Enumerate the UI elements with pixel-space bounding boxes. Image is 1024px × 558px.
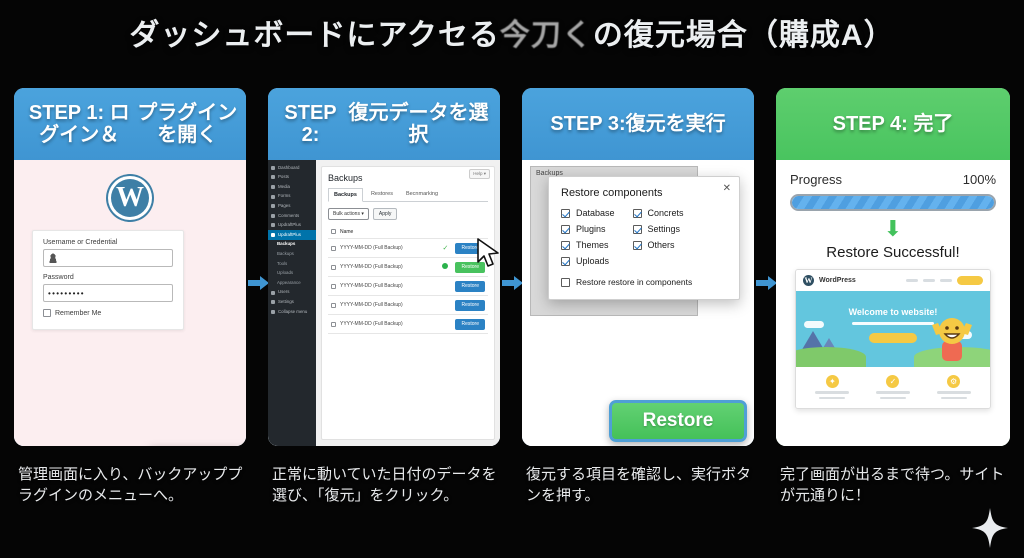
restore-button[interactable]: Restore [455, 262, 485, 273]
sidebar-item-label: Settings [278, 300, 294, 304]
sidebar-item-label: Tools [277, 262, 287, 266]
tab-restores[interactable]: Restores [366, 188, 398, 201]
title-part-1: ダッシュボードにアクセる [129, 19, 500, 52]
title-glitch-text: 今刀く [500, 19, 593, 52]
title-part-2: の復元場合（購成A） [593, 19, 895, 52]
site-hero: Welcome to website! [796, 291, 990, 367]
backup-rows: YYYY-MM-DD (Full Backup)✓RestoreYYYY-MM-… [328, 239, 488, 334]
status-check-icon: ✓ [439, 244, 451, 252]
user-icon [48, 253, 58, 263]
bulk-actions-label: Bulk actions [333, 211, 360, 217]
sidebar-item-icon [271, 233, 275, 237]
wp-admin-sidebar: DashboardPostsMediaFormsPagesCommentsUpd… [268, 160, 316, 446]
step-4-panel: STEP 4: 完了 Progress 100% ⬇ Restore Succe… [776, 88, 1010, 446]
sidebar-item-label: Appearance [277, 281, 301, 285]
progress-label: Progress [790, 172, 842, 187]
sidebar-item-appearance[interactable]: Appearance [268, 278, 316, 288]
step-2-header: STEP 2:復元データを選択 [268, 88, 500, 160]
hero-cta-button[interactable] [869, 333, 917, 343]
sparkle-icon [972, 508, 1008, 548]
component-option-database[interactable]: Database [561, 208, 615, 218]
progress-value: 100% [963, 172, 996, 187]
row-checkbox[interactable] [331, 265, 336, 270]
sidebar-item-icon [271, 300, 275, 304]
component-label: Themes [576, 240, 609, 250]
step-3-header: STEP 3:復元を実行 [522, 88, 754, 160]
star-icon: ✦ [826, 375, 839, 388]
component-option-uploads[interactable]: Uploads [561, 256, 615, 266]
status-dot-icon [439, 263, 451, 271]
component-checkbox[interactable] [561, 241, 570, 250]
sidebar-item-icon [271, 204, 275, 208]
table-row[interactable]: YYYY-MM-DD (Full Backup)✓Restore [328, 239, 488, 258]
sidebar-item-icon [271, 185, 275, 189]
help-button[interactable]: Help ▾ [469, 169, 490, 179]
extra-option-label: Restore restore in components [576, 277, 692, 287]
component-checkbox[interactable] [633, 209, 642, 218]
feature-line [876, 391, 910, 394]
sidebar-item-forms[interactable]: Forms [268, 192, 316, 202]
components-grid: DatabasePluginsThemesUploads ConcretsSet… [561, 208, 727, 266]
tab-backups[interactable]: Backups [328, 188, 363, 202]
nav-link-placeholder[interactable] [906, 279, 918, 282]
step-4-header: STEP 4: 完了 [776, 88, 1010, 160]
connector-arrow-3 [756, 275, 778, 291]
table-row[interactable]: YYYY-MM-DD (Full Backup)Restore [328, 277, 488, 296]
tab-becnmarking[interactable]: Becnmarking [401, 188, 443, 201]
progress-bar-fill [792, 196, 994, 209]
page-title: ダッシュボードにアクセる今刀くの復元場合（購成A） [0, 10, 1024, 54]
backup-name: YYYY-MM-DD (Full Backup) [340, 321, 435, 327]
backups-tabs: Backups Restores Becnmarking [328, 188, 488, 202]
component-label: Settings [648, 224, 681, 234]
sidebar-item-users[interactable]: Users [268, 288, 316, 298]
feature-line [819, 397, 845, 400]
sidebar-item-label: Backups [277, 242, 295, 246]
restore-button[interactable]: Restore [455, 281, 485, 292]
component-option-settings[interactable]: Settings [633, 224, 684, 234]
restore-button[interactable]: Restore [609, 400, 747, 442]
username-label: Username or Credential [43, 239, 173, 246]
component-label: Plugins [576, 224, 606, 234]
backup-name: YYYY-MM-DD (Full Backup) [340, 245, 435, 251]
feature-line [941, 397, 967, 400]
component-option-concrets[interactable]: Concrets [633, 208, 684, 218]
sidebar-item-uploads[interactable]: Uploads [268, 269, 316, 279]
bulk-actions-select[interactable]: Bulk actions ▾ [328, 208, 369, 220]
sidebar-item-pages[interactable]: Pages [268, 201, 316, 211]
hero-divider [852, 322, 934, 325]
apply-button[interactable]: Apply [373, 208, 398, 220]
sidebar-item-icon [271, 214, 275, 218]
components-column-right: ConcretsSettingsOthers [633, 208, 684, 266]
login-form: Username or Credential Password ••••••••… [32, 230, 184, 330]
feature-item: ✓ [869, 375, 917, 399]
password-input[interactable]: ••••••••• [43, 284, 173, 302]
table-row[interactable]: YYYY-MM-DD (Full Backup)Restore [328, 315, 488, 334]
table-row[interactable]: YYYY-MM-DD (Full Backup)Restore [328, 296, 488, 315]
success-message: Restore Successful! [790, 244, 996, 261]
remember-me-label: Remember Me [55, 310, 101, 317]
connector-arrow-2 [502, 275, 524, 291]
caption-step-1: 管理画面に入り、バックアッププラグインのメニューへ。 [18, 464, 254, 507]
row-checkbox[interactable] [331, 303, 336, 308]
feature-line [937, 391, 971, 394]
step-2-panel: STEP 2:復元データを選択 DashboardPostsMediaForms… [268, 88, 500, 446]
sidebar-item-collapse-menu[interactable]: Collapse menu [268, 307, 316, 317]
sidebar-item-label: UpdraftPlus [278, 223, 301, 227]
sidebar-item-icon [271, 310, 275, 314]
feature-line [880, 397, 906, 400]
select-all-checkbox[interactable] [331, 229, 336, 234]
sidebar-item-icon [271, 166, 275, 170]
hill-shape [796, 347, 866, 367]
backup-name: YYYY-MM-DD (Full Backup) [340, 264, 435, 270]
restore-components-dialog: ✕ Restore components DatabasePluginsThem… [548, 176, 740, 300]
site-navbar: W WordPress [796, 270, 990, 291]
nav-link-placeholder[interactable] [940, 279, 952, 282]
website-preview: W WordPress [795, 269, 991, 409]
restore-button[interactable]: Restore [455, 243, 485, 254]
sidebar-item-tools[interactable]: Tools [268, 259, 316, 269]
nav-link-placeholder[interactable] [923, 279, 935, 282]
happy-character-icon [930, 313, 974, 361]
sidebar-item-updraftplus[interactable]: UpdraftPlus [268, 221, 316, 231]
component-checkbox[interactable] [561, 225, 570, 234]
caption-step-2: 正常に動いていた日付のデータを選び、「復元」をクリック。 [272, 464, 508, 507]
restore-button[interactable]: Restore [455, 319, 485, 330]
completion-screen: Progress 100% ⬇ Restore Successful! W Wo… [776, 160, 1010, 446]
table-header-row: Name [328, 225, 488, 239]
sidebar-item-label: Media [278, 185, 290, 189]
step-2-body: DashboardPostsMediaFormsPagesCommentsUpd… [268, 160, 500, 446]
sidebar-item-media[interactable]: Media [268, 182, 316, 192]
sidebar-item-label: Pages [278, 204, 290, 208]
sidebar-item-label: UpdraftPlus [278, 233, 301, 237]
wp-admin-screen: DashboardPostsMediaFormsPagesCommentsUpd… [268, 160, 500, 446]
sidebar-item-label: Uploads [277, 271, 293, 275]
nav-cta-button[interactable] [957, 276, 983, 285]
component-option-themes[interactable]: Themes [561, 240, 615, 250]
remember-me-row[interactable]: Remember Me [43, 309, 173, 317]
component-label: Uploads [576, 256, 609, 266]
components-column-left: DatabasePluginsThemesUploads [561, 208, 615, 266]
backup-name: YYYY-MM-DD (Full Backup) [340, 283, 435, 289]
sidebar-item-backups[interactable]: Backups [268, 249, 316, 259]
sidebar-item-icon [271, 223, 275, 227]
connector-arrow-1 [248, 275, 270, 291]
check-icon: ✓ [886, 375, 899, 388]
column-header-name: Name [340, 229, 437, 235]
sidebar-item-dashboard[interactable]: Dashboard [268, 163, 316, 173]
sidebar-item-icon [271, 175, 275, 179]
caption-step-4: 完了画面が出るまで待つ。サイトが元通りに！ [780, 464, 1016, 507]
component-option-others[interactable]: Others [633, 240, 684, 250]
sidebar-item-label: Dashboard [278, 166, 299, 170]
close-icon[interactable]: ✕ [723, 183, 731, 194]
component-checkbox[interactable] [561, 209, 570, 218]
progress-row: Progress 100% [790, 172, 996, 187]
row-checkbox[interactable] [331, 246, 336, 251]
component-option-plugins[interactable]: Plugins [561, 224, 615, 234]
step-1-body: W Username or Credential Password ••••••… [14, 160, 246, 446]
step-3-body: Backups ✕ Restore components DatabasePlu… [522, 160, 754, 446]
progress-bar [790, 194, 996, 211]
gear-icon: ⚙ [947, 375, 960, 388]
feature-item: ⚙ [930, 375, 978, 399]
restore-button[interactable]: Restore [455, 300, 485, 311]
bulk-actions-row: Bulk actions ▾ Apply [328, 208, 488, 220]
component-label: Concrets [648, 208, 684, 218]
sidebar-item-posts[interactable]: Posts [268, 173, 316, 183]
component-checkbox[interactable] [561, 257, 570, 266]
wordpress-logo-icon: W [803, 275, 814, 286]
dialog-title: Restore components [561, 187, 727, 199]
backups-page-title: Backups [328, 173, 488, 183]
sidebar-item-icon [271, 291, 275, 295]
cloud-icon [804, 321, 824, 328]
password-label: Password [43, 274, 173, 281]
row-checkbox[interactable] [331, 284, 336, 289]
caption-step-3: 復元する項目を確認し、実行ボタンを押す。 [526, 464, 762, 507]
help-label: Help [473, 171, 482, 176]
step-4-body: Progress 100% ⬇ Restore Successful! W Wo… [776, 160, 1010, 446]
sidebar-item-settings[interactable]: Settings [268, 297, 316, 307]
sidebar-item-comments[interactable]: Comments [268, 211, 316, 221]
site-brand: WordPress [819, 277, 856, 284]
password-value: ••••••••• [48, 289, 85, 298]
component-checkbox[interactable] [633, 225, 642, 234]
infographic-canvas: ダッシュボードにアクセる今刀くの復元場合（購成A） STEP 1: ログイン＆プ… [0, 0, 1024, 558]
component-checkbox[interactable] [633, 241, 642, 250]
feature-item: ✦ [808, 375, 856, 399]
backup-name: YYYY-MM-DD (Full Backup) [340, 302, 435, 308]
arrow-down-icon: ⬇ [790, 218, 996, 240]
row-checkbox[interactable] [331, 322, 336, 327]
extra-option-checkbox[interactable] [561, 278, 570, 287]
remember-me-checkbox[interactable] [43, 309, 51, 317]
sidebar-item-label: Posts [278, 175, 289, 179]
feature-line [815, 391, 849, 394]
site-features: ✦ ✓ ⚙ [796, 367, 990, 408]
step-1-panel: STEP 1: ログイン＆プラグインを開く W Username or Cred… [14, 88, 246, 446]
sidebar-item-label: Forms [278, 194, 290, 198]
table-row[interactable]: YYYY-MM-DD (Full Backup)Restore [328, 258, 488, 277]
step-1-header: STEP 1: ログイン＆プラグインを開く [14, 88, 246, 160]
username-input[interactable] [43, 249, 173, 267]
sidebar-item-icon [271, 195, 275, 199]
component-label: Others [648, 240, 675, 250]
sidebar-item-backups[interactable]: Backups [268, 240, 316, 250]
component-label: Database [576, 208, 615, 218]
backups-card: Backups Backups Restores Becnmarking Bul… [321, 166, 495, 440]
sidebar-item-label: Users [278, 290, 289, 294]
wordpress-logo-icon: W [108, 176, 152, 220]
sidebar-item-label: Comments [278, 214, 299, 218]
backups-page: Backups Backups Restores Becnmarking Bul… [316, 160, 500, 446]
sidebar-item-label: Backups [277, 252, 294, 256]
step-3-panel: STEP 3:復元を実行 Backups ✕ Restore component… [522, 88, 754, 446]
sidebar-item-label: Collapse menu [278, 310, 307, 314]
sidebar-item-updraftplus[interactable]: UpdraftPlus [268, 230, 316, 240]
extra-option-row[interactable]: Restore restore in components [561, 277, 727, 287]
